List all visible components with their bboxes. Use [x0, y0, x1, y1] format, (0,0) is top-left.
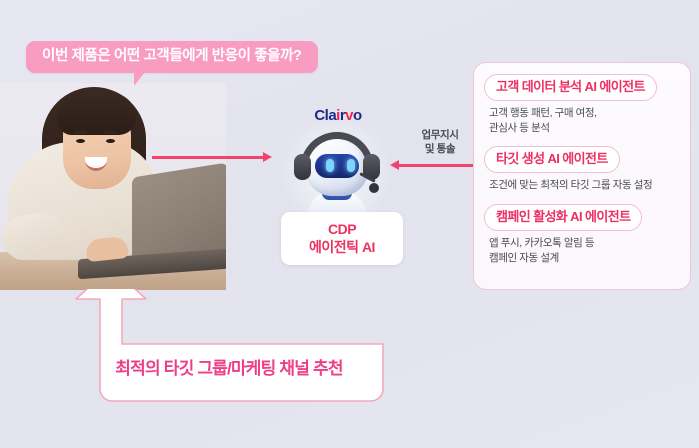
clairvo-logo: Clairvo	[297, 108, 379, 123]
agent-desc-2: 조건에 맞는 최적의 타깃 그룹 자동 설정	[489, 178, 680, 193]
photo-eye-right	[106, 139, 115, 143]
speech-bubble: 이번 제품은 어떤 고객들에게 반응이 좋을까?	[26, 41, 318, 73]
agent-desc-3: 앱 푸시, 카카오톡 알림 등 캠페인 자동 설계	[489, 236, 680, 266]
diagram-canvas: 이번 제품은 어떤 고객들에게 반응이 좋을까? 업무지시 및 통솔 Clair…	[0, 0, 699, 448]
arrow-user-to-agent-head	[263, 152, 272, 162]
speech-bubble-text: 이번 제품은 어떤 고객들에게 반응이 좋을까?	[42, 49, 302, 64]
cdp-agentic-ai-label: CDP 에이전틱 AI	[281, 212, 403, 265]
photo-fringe	[58, 93, 136, 135]
agent-title-text-3: 캠페인 활성화 AI 에이전트	[496, 209, 630, 224]
arrow-agent-panel-line	[398, 164, 480, 167]
agent-desc-1: 고객 행동 패턴, 구매 여정, 관심사 등 분석	[489, 106, 680, 136]
agent-desc-3-line2: 캠페인 자동 설계	[489, 252, 559, 264]
photo-eye-left	[76, 139, 85, 143]
arrow-mid-label-line2: 및 통솔	[398, 142, 482, 156]
arrow-mid-label: 업무지시 및 통솔	[398, 128, 482, 156]
cdp-label-line2: 에이전틱 AI	[285, 238, 399, 256]
arrow-user-to-agent-line	[152, 156, 264, 159]
agent-desc-2-line1: 조건에 맞는 최적의 타깃 그룹 자동 설정	[489, 179, 652, 191]
cdp-label-line1: CDP	[285, 220, 399, 238]
agent-desc-1-line1: 고객 행동 패턴, 구매 여정,	[489, 107, 597, 119]
arrow-mid-label-line1: 업무지시	[398, 128, 482, 142]
agent-title-text-2: 타깃 생성 AI 에이전트	[496, 151, 608, 166]
robot-mic-tip	[369, 183, 379, 193]
agent-title-text-1: 고객 데이터 분석 AI 에이전트	[496, 79, 645, 94]
agent-card-title-2: 타깃 생성 AI 에이전트	[484, 146, 620, 173]
agent-desc-1-line2: 관심사 등 분석	[489, 122, 550, 134]
bottom-banner-text: 최적의 타깃 그룹/마케팅 채널 추천	[63, 360, 395, 377]
agent-desc-3-line1: 앱 푸시, 카카오톡 알림 등	[489, 237, 594, 249]
laptop-user-photo	[0, 83, 226, 290]
agent-card-title-3: 캠페인 활성화 AI 에이전트	[484, 204, 642, 231]
agent-card-title-1: 고객 데이터 분석 AI 에이전트	[484, 74, 657, 101]
feedback-arrow-shape	[63, 289, 395, 407]
robot-headset-ear-left	[294, 154, 311, 180]
feedback-arrow-banner	[63, 289, 395, 407]
ai-agents-panel: 고객 데이터 분석 AI 에이전트 고객 행동 패턴, 구매 여정, 관심사 등…	[473, 62, 691, 290]
